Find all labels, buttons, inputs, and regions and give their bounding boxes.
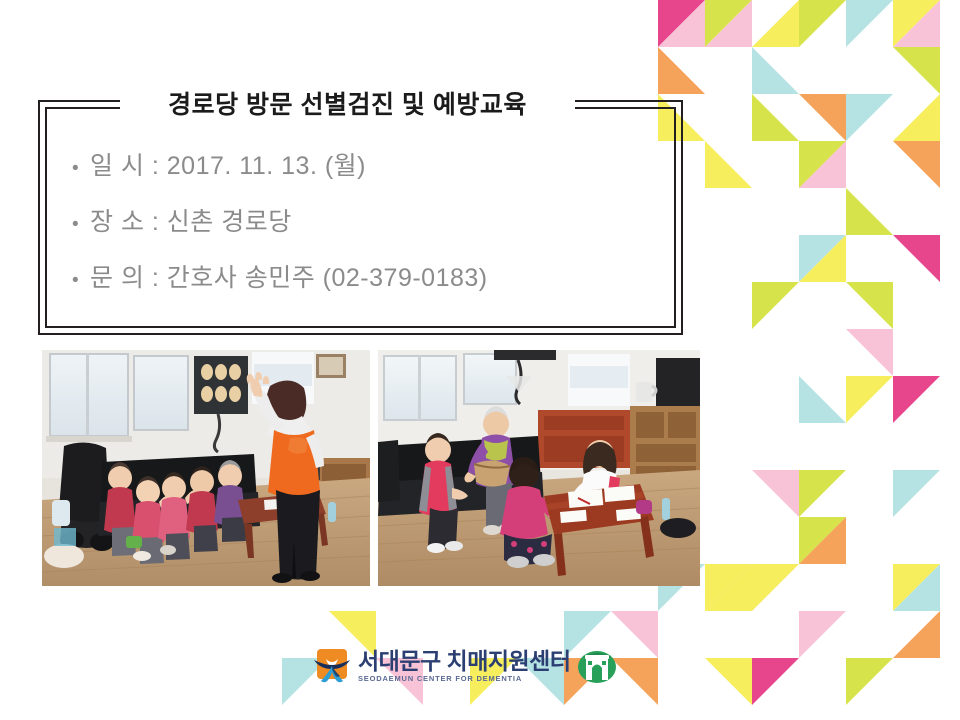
pattern-triangle bbox=[799, 235, 846, 282]
pattern-triangle bbox=[846, 282, 893, 329]
pattern-triangle bbox=[658, 0, 705, 47]
list-item-location: • 장 소 : 신촌 경로당 bbox=[72, 202, 672, 258]
pattern-triangle bbox=[893, 0, 940, 47]
pattern-triangle bbox=[846, 94, 893, 141]
pattern-triangle bbox=[799, 235, 846, 282]
pattern-triangle bbox=[893, 0, 940, 47]
pattern-triangle bbox=[752, 0, 799, 47]
pattern-triangle bbox=[893, 94, 940, 141]
bullet-text-date: 일 시 : 2017. 11. 13. (월) bbox=[90, 146, 366, 182]
pattern-triangle bbox=[846, 188, 893, 235]
pattern-triangle bbox=[799, 517, 846, 564]
list-item-date: • 일 시 : 2017. 11. 13. (월) bbox=[72, 146, 672, 202]
slide-canvas: 경로당 방문 선별검진 및 예방교육 • 일 시 : 2017. 11. 13.… bbox=[0, 0, 960, 720]
pattern-triangle bbox=[893, 564, 940, 611]
pattern-triangle bbox=[658, 47, 705, 94]
pattern-triangle bbox=[846, 0, 893, 47]
pattern-triangle bbox=[846, 329, 893, 376]
pattern-triangle bbox=[799, 611, 846, 658]
bullet-text-location: 장 소 : 신촌 경로당 bbox=[90, 202, 292, 238]
pattern-triangle bbox=[799, 376, 846, 423]
pattern-triangle bbox=[752, 94, 799, 141]
pattern-triangle bbox=[799, 141, 846, 188]
pattern-triangle bbox=[752, 658, 799, 705]
pattern-triangle bbox=[893, 611, 940, 658]
pattern-triangle bbox=[893, 235, 940, 282]
pattern-triangle bbox=[893, 141, 940, 188]
page-title: 경로당 방문 선별검진 및 예방교육 bbox=[120, 88, 575, 122]
dokripmun-gate-icon bbox=[577, 646, 617, 686]
pattern-triangle bbox=[752, 564, 799, 611]
pattern-triangle bbox=[705, 0, 752, 47]
pattern-triangle bbox=[705, 564, 752, 611]
pattern-triangle bbox=[705, 658, 752, 705]
bullet-dot-icon: • bbox=[72, 159, 90, 178]
pattern-triangle bbox=[893, 47, 940, 94]
pattern-triangle bbox=[893, 376, 940, 423]
pattern-triangle bbox=[705, 0, 752, 47]
pattern-triangle bbox=[658, 0, 705, 47]
seodaemun-symbol-icon bbox=[312, 646, 352, 686]
bullet-text-contact: 문 의 : 간호사 송민주 (02-379-0183) bbox=[90, 258, 488, 294]
pattern-triangle bbox=[799, 470, 846, 517]
pattern-triangle bbox=[752, 47, 799, 94]
logo-title-english: SEODAEMUN CENTER FOR DEMENTIA bbox=[358, 674, 571, 683]
pattern-triangle bbox=[893, 470, 940, 517]
pattern-triangle bbox=[846, 658, 893, 705]
pattern-triangle bbox=[846, 376, 893, 423]
organization-logo: 서대문구 치매지원센터 SEODAEMUN CENTER FOR DEMENTI… bbox=[312, 642, 652, 690]
photo-group-education bbox=[42, 350, 370, 586]
pattern-triangle bbox=[705, 141, 752, 188]
bullet-dot-icon: • bbox=[72, 271, 90, 290]
pattern-triangle bbox=[752, 470, 799, 517]
photo-screening-table bbox=[378, 350, 700, 586]
pattern-triangle bbox=[799, 141, 846, 188]
logo-wordmark: 서대문구 치매지원센터 SEODAEMUN CENTER FOR DEMENTI… bbox=[358, 649, 571, 683]
list-item-contact: • 문 의 : 간호사 송민주 (02-379-0183) bbox=[72, 258, 672, 314]
info-bullet-list: • 일 시 : 2017. 11. 13. (월) • 장 소 : 신촌 경로당… bbox=[72, 146, 672, 314]
pattern-triangle bbox=[799, 517, 846, 564]
pattern-triangle bbox=[799, 0, 846, 47]
logo-title-korean: 서대문구 치매지원센터 bbox=[358, 649, 571, 673]
pattern-triangle bbox=[799, 94, 846, 141]
bullet-dot-icon: • bbox=[72, 215, 90, 234]
pattern-triangle bbox=[705, 564, 752, 611]
pattern-triangle bbox=[893, 564, 940, 611]
pattern-triangle bbox=[752, 282, 799, 329]
